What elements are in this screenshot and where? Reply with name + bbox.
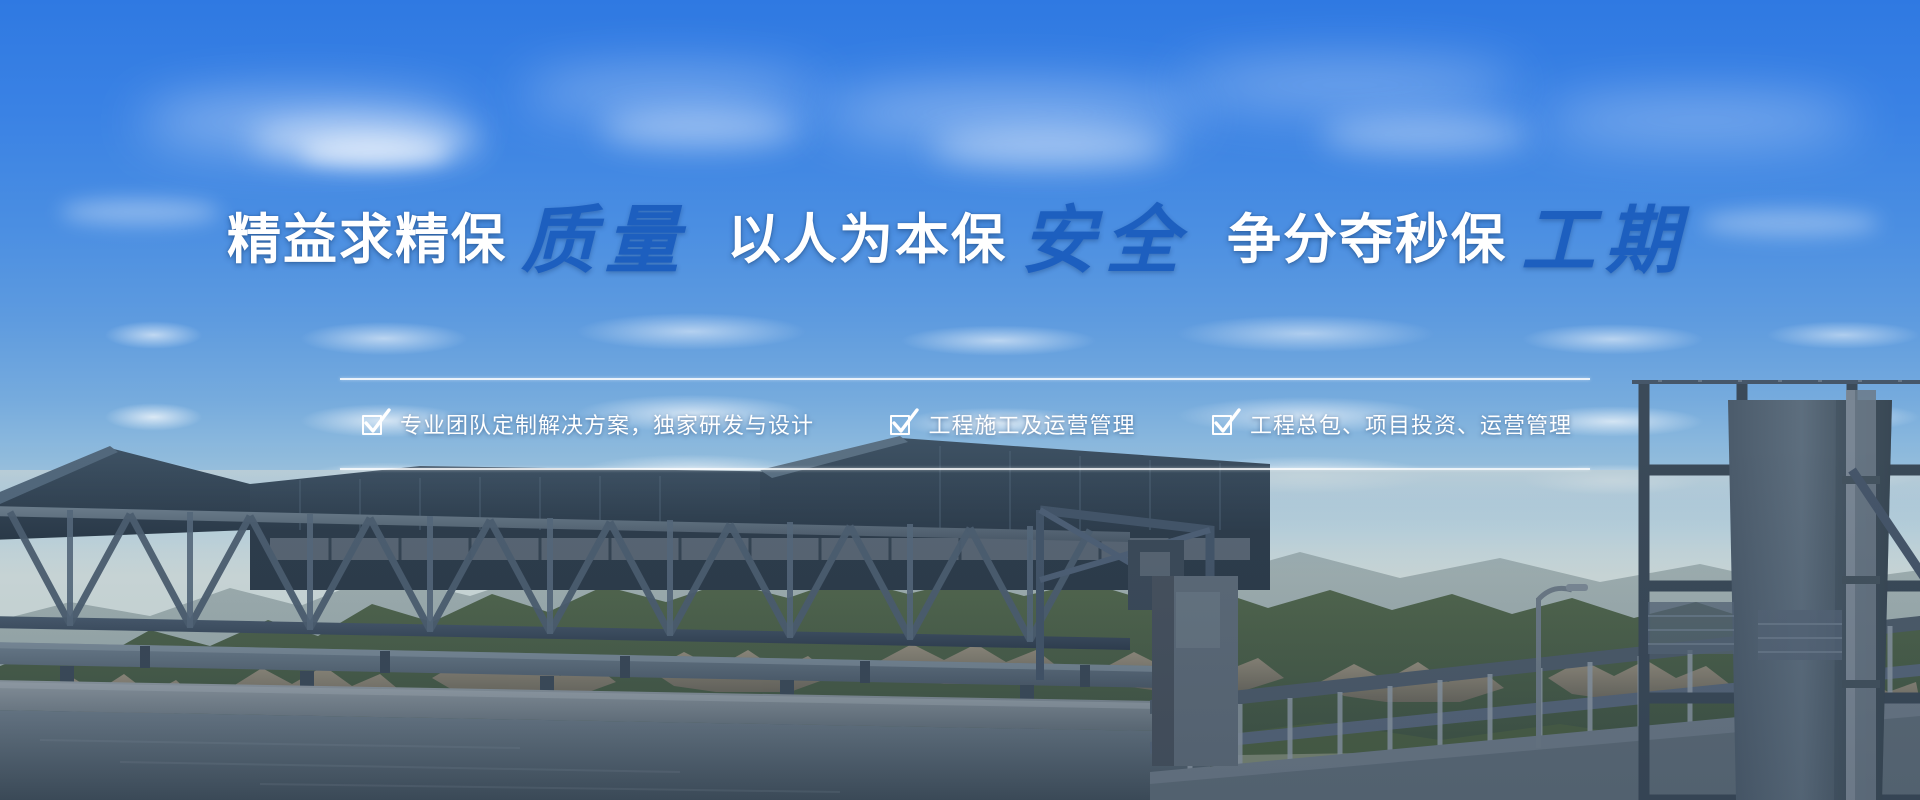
checkbox-checked-icon <box>1212 413 1234 435</box>
feature-label-1: 专业团队定制解决方案，独家研发与设计 <box>400 408 814 440</box>
feature-label-2: 工程施工及运营管理 <box>928 408 1135 440</box>
checkbox-checked-icon <box>362 413 384 435</box>
feature-item-3[interactable]: 工程总包、项目投资、运营管理 <box>1212 408 1572 440</box>
headline-plain-2: 以人为本保 <box>727 208 1007 271</box>
checkbox-checked-icon <box>890 413 912 435</box>
feature-item-2[interactable]: 工程施工及运营管理 <box>890 408 1135 440</box>
feature-item-1[interactable]: 专业团队定制解决方案，独家研发与设计 <box>362 408 814 440</box>
equipment-cabinet <box>1152 576 1238 766</box>
headline-calligraphy-1: 质量 <box>521 198 689 284</box>
headline-calligraphy-2: 安全 <box>1021 198 1189 284</box>
cloud-band-upper <box>0 300 1920 370</box>
divider-bottom <box>340 468 1590 470</box>
headline-plain-3: 争分夺秒保 <box>1227 208 1507 271</box>
headline-segment-2: 以人为本保安全 <box>727 196 1193 270</box>
feature-label-3: 工程总包、项目投资、运营管理 <box>1250 408 1572 440</box>
headline-segment-1: 精益求精保质量 <box>227 196 693 270</box>
headline-plain-1: 精益求精保 <box>227 208 507 271</box>
feature-bar: 专业团队定制解决方案，独家研发与设计 工程施工及运营管理 <box>340 378 1590 470</box>
headline: 精益求精保质量 以人为本保安全 争分夺秒保工期 <box>0 196 1920 270</box>
headline-calligraphy-3: 工期 <box>1521 198 1689 284</box>
hero-banner: 精益求精保质量 以人为本保安全 争分夺秒保工期 专业团队定制解决方案，独家研发与… <box>0 0 1920 800</box>
headline-segment-3: 争分夺秒保工期 <box>1227 196 1693 270</box>
feature-list: 专业团队定制解决方案，独家研发与设计 工程施工及运营管理 <box>340 380 1590 468</box>
